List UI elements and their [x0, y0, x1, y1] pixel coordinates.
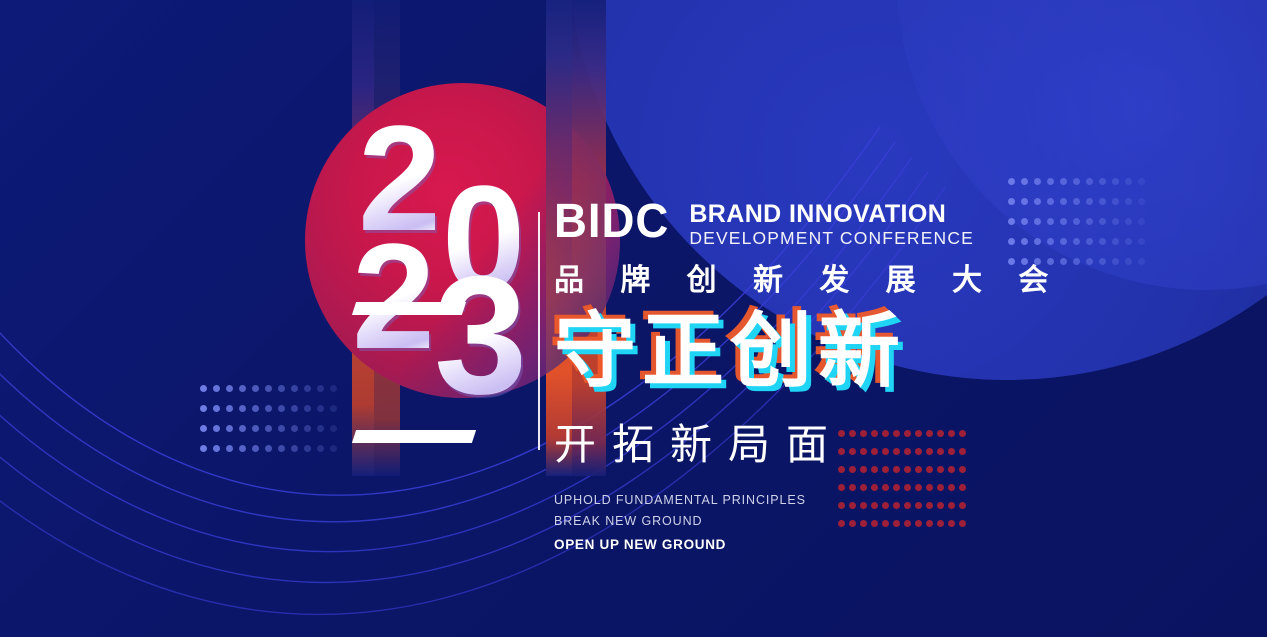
decor-dot [252, 425, 259, 432]
decor-dot [239, 385, 246, 392]
decor-dot [291, 385, 298, 392]
decor-dot [1047, 178, 1054, 185]
english-slogan-line-2: BREAK NEW GROUND [554, 511, 1254, 533]
decor-dot [1112, 178, 1119, 185]
brand-english-line2: DEVELOPMENT CONFERENCE [689, 228, 974, 249]
decor-dot [226, 405, 233, 412]
decor-dot [265, 385, 272, 392]
decor-dot [304, 425, 311, 432]
decor-dot [278, 405, 285, 412]
poster-text-block: BIDC BRAND INNOVATION DEVELOPMENT CONFER… [554, 199, 1254, 556]
decor-dot [200, 445, 207, 452]
decor-dot [239, 445, 246, 452]
decor-dot [200, 405, 207, 412]
decor-dot [265, 445, 272, 452]
headline-main-wrapper: 守正创新 守正创新 守正创新 [554, 309, 1254, 399]
decor-dot [317, 425, 324, 432]
brand-acronym: BIDC [554, 199, 669, 245]
decor-dot [1099, 178, 1106, 185]
decor-dot [317, 385, 324, 392]
year-logo-2023: 2 0 2 3 [352, 120, 542, 410]
decor-dot [1073, 178, 1080, 185]
decor-dot [304, 385, 311, 392]
decor-dot [252, 405, 259, 412]
decor-dot [291, 425, 298, 432]
decor-dot [330, 405, 337, 412]
logo-digit-3: 3 [434, 270, 521, 401]
decor-dot [200, 425, 207, 432]
decor-dot [330, 385, 337, 392]
decor-dot [200, 385, 207, 392]
headline-main: 守正创新 [554, 309, 906, 395]
vertical-divider [538, 212, 540, 450]
decor-dot [291, 405, 298, 412]
decor-dot [265, 405, 272, 412]
decor-dot [213, 425, 220, 432]
decor-dot [226, 445, 233, 452]
decor-dot [291, 445, 298, 452]
decor-dot [213, 405, 220, 412]
decor-dot [1086, 178, 1093, 185]
logo-digit-2-bottom: 2 [352, 238, 429, 355]
decor-dot [1060, 178, 1067, 185]
decor-dot [278, 385, 285, 392]
brand-chinese-name: 品 牌 创 新 发 展 大 会 [554, 255, 1254, 299]
decor-dot [1021, 178, 1028, 185]
decor-dot [330, 425, 337, 432]
decor-dot [278, 445, 285, 452]
english-slogan-block: UPHOLD FUNDAMENTAL PRINCIPLES BREAK NEW … [554, 490, 1254, 556]
decor-dot [1138, 178, 1145, 185]
decor-dot [265, 425, 272, 432]
decor-dot [1008, 178, 1015, 185]
decor-dot [278, 425, 285, 432]
decor-dot [226, 385, 233, 392]
decor-dot [317, 405, 324, 412]
decor-dot [1034, 178, 1041, 185]
decor-dot [304, 445, 311, 452]
decor-dot [252, 385, 259, 392]
logo-slash-bar-top [352, 302, 466, 315]
decor-dot [252, 445, 259, 452]
brand-english-line1: BRAND INNOVATION [689, 202, 974, 228]
decor-dot [330, 445, 337, 452]
logo-slash-bar-bottom [352, 430, 476, 443]
conference-poster: 2 0 2 3 BIDC BRAND INNOVATION DEVELOPMEN… [0, 0, 1267, 637]
english-slogan-line-3: OPEN UP NEW GROUND [554, 533, 1254, 556]
decor-dot [239, 425, 246, 432]
headline-sub: 开拓新局面 [554, 411, 1254, 472]
brand-english-names: BRAND INNOVATION DEVELOPMENT CONFERENCE [689, 199, 974, 249]
english-slogan-line-1: UPHOLD FUNDAMENTAL PRINCIPLES [554, 490, 1254, 512]
dot-grid-left [200, 385, 343, 465]
decor-dot [304, 405, 311, 412]
decor-dot [213, 445, 220, 452]
decor-dot [239, 405, 246, 412]
decor-dot [1125, 178, 1132, 185]
brand-acronym-row: BIDC BRAND INNOVATION DEVELOPMENT CONFER… [554, 199, 1254, 249]
decor-dot [226, 425, 233, 432]
decor-dot [317, 445, 324, 452]
decor-dot [213, 385, 220, 392]
